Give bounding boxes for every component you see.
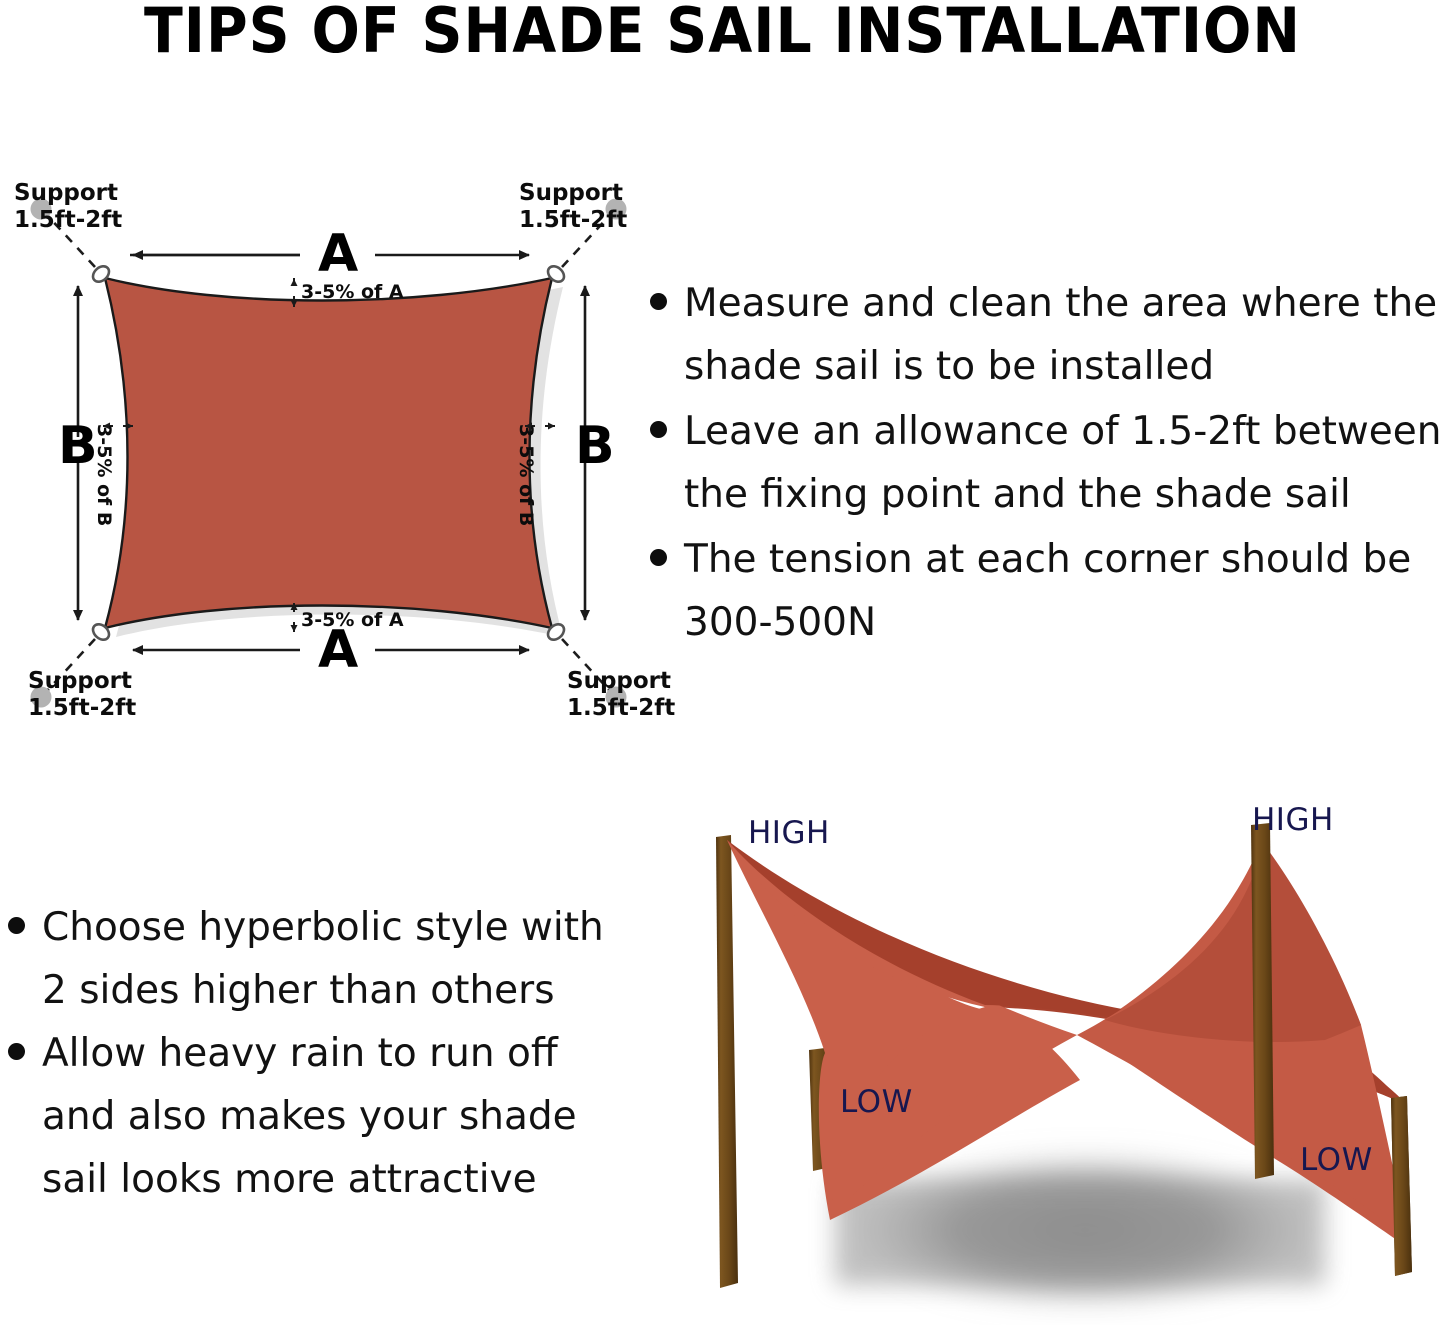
curve-label-top: 3-5% of A <box>301 283 404 302</box>
list-item: Choose hyperbolic style with 2 sides hig… <box>8 896 626 1022</box>
hyperbolic-tips-list: Choose hyperbolic style with 2 sides hig… <box>8 896 626 1211</box>
bullet-dot-icon <box>8 1043 25 1060</box>
post-front-right-front <box>1391 1096 1412 1276</box>
support-label-top-right: Support 1.5ft-2ft <box>519 180 627 234</box>
list-item: Leave an allowance of 1.5-2ft between th… <box>650 400 1445 526</box>
post-back-left <box>716 835 738 1288</box>
bullet-dot-icon <box>650 421 667 438</box>
installation-tips-list: Measure and clean the area where the sha… <box>650 272 1445 656</box>
list-item-text: The tension at each corner should be 300… <box>684 528 1445 654</box>
list-item-text: Allow heavy rain to run off and also mak… <box>42 1022 626 1211</box>
post-label-low-right: LOW <box>1300 1145 1373 1176</box>
post-label-high-right: HIGH <box>1252 805 1334 836</box>
curve-label-left: 3-5% of B <box>94 424 113 526</box>
support-label-top-left: Support 1.5ft-2ft <box>14 180 122 234</box>
dimension-letter-B-right: B <box>575 420 615 472</box>
list-item-text: Measure and clean the area where the sha… <box>684 272 1445 398</box>
dimension-letter-A-top: A <box>318 228 358 280</box>
shade-sail-shape <box>105 278 552 628</box>
bullet-dot-icon <box>8 917 25 934</box>
dimension-letter-A-bottom: A <box>318 624 358 676</box>
bullet-dot-icon <box>650 549 667 566</box>
list-item: The tension at each corner should be 300… <box>650 528 1445 654</box>
page-title: TIPS OF SHADE SAIL INSTALLATION <box>0 0 1445 63</box>
dimension-letter-B-left: B <box>58 420 98 472</box>
curve-label-right: 3-5% of B <box>516 424 535 526</box>
support-label-bottom-left: Support 1.5ft-2ft <box>28 668 136 722</box>
sail-right-triangle-upper <box>1105 843 1361 1042</box>
list-item-text: Leave an allowance of 1.5-2ft between th… <box>684 400 1445 526</box>
list-item: Allow heavy rain to run off and also mak… <box>8 1022 626 1211</box>
list-item: Measure and clean the area where the sha… <box>650 272 1445 398</box>
ground-shadow-block <box>835 1180 1325 1285</box>
support-label-bottom-right: Support 1.5ft-2ft <box>567 668 675 722</box>
post-back-right <box>1251 823 1274 1179</box>
curve-label-bottom: 3-5% of A <box>301 611 404 630</box>
list-item-text: Choose hyperbolic style with 2 sides hig… <box>42 896 626 1022</box>
infographic-page: TIPS OF SHADE SAIL INSTALLATION <box>0 0 1445 1319</box>
bullet-dot-icon <box>650 293 667 310</box>
hyperbolic-sail-diagram <box>685 785 1445 1325</box>
post-label-high-left: HIGH <box>748 818 830 849</box>
post-label-low-left: LOW <box>840 1087 913 1118</box>
